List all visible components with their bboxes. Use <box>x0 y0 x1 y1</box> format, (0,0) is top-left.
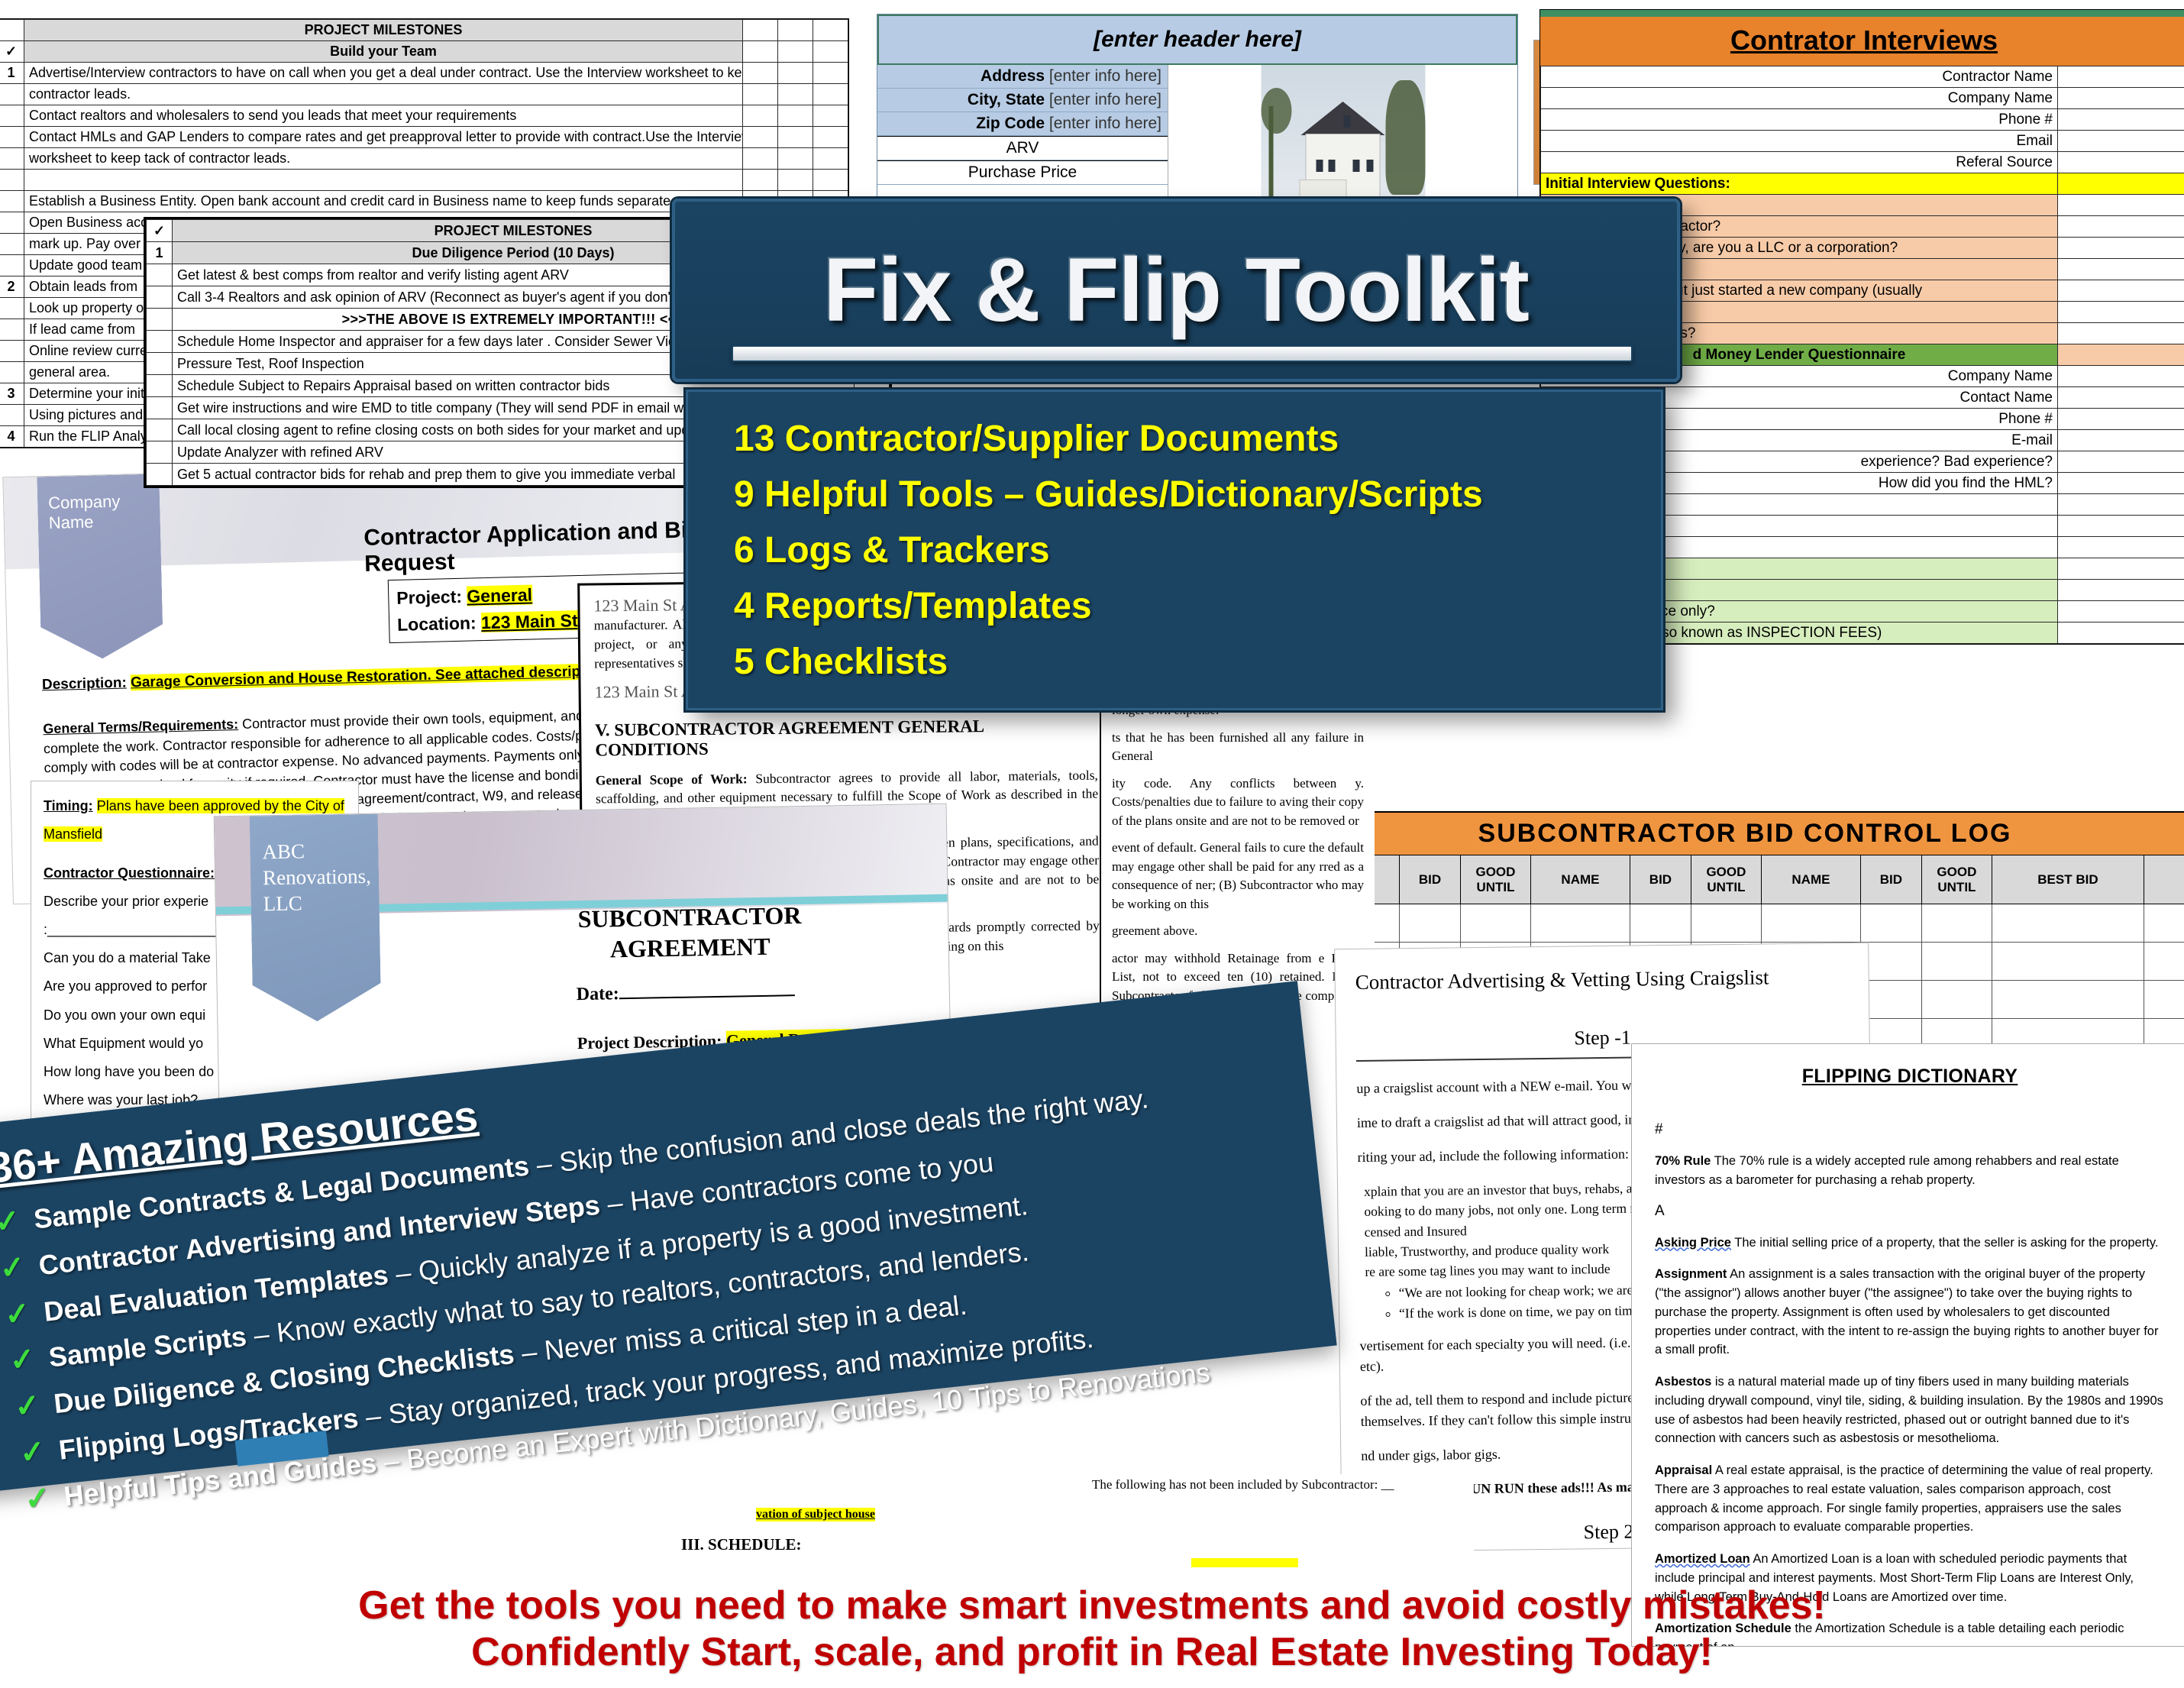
zip-row[interactable]: Zip Code [enter info here] <box>877 112 1168 136</box>
cell[interactable] <box>1860 904 1921 943</box>
table-row: 1Advertise/Interview contractors to have… <box>0 63 848 84</box>
tree-left-canopy-icon <box>1261 88 1291 134</box>
house-window <box>1316 160 1323 172</box>
check-cell[interactable] <box>0 191 24 212</box>
field-input[interactable] <box>2058 409 2184 430</box>
answer-cell[interactable] <box>2058 516 2184 537</box>
field-input[interactable] <box>2058 152 2184 173</box>
check-cell[interactable] <box>147 375 173 397</box>
feature-item: 13 Contractor/Supplier Documents <box>734 412 1661 467</box>
answer-cell[interactable] <box>2058 216 2184 238</box>
cell[interactable] <box>2058 344 2184 366</box>
features-list-card: 13 Contractor/Supplier Documents 9 Helpf… <box>686 390 1663 710</box>
row-number: 2 <box>0 276 24 298</box>
answer-cell[interactable] <box>2058 537 2184 558</box>
cell[interactable] <box>778 170 813 191</box>
cell[interactable] <box>778 148 813 170</box>
purchase-price-row[interactable]: Purchase Price <box>877 160 1168 185</box>
col-cell[interactable] <box>743 20 778 41</box>
gc-fragment: event of default. General fails to cure … <box>1112 839 1364 914</box>
cell[interactable] <box>778 63 813 84</box>
row-number: 1 <box>147 242 173 264</box>
col-header-name: NAME <box>1761 855 1860 904</box>
answer-cell[interactable] <box>2058 494 2184 516</box>
yellow-highlight-bar <box>1191 1558 1298 1567</box>
bid-log-title: SUBCONTRACTOR BID CONTROL LOG <box>1300 813 2184 855</box>
house-porch <box>1299 179 1346 198</box>
check-cell[interactable] <box>0 341 24 362</box>
gc-fragment: greement above. <box>1112 922 1364 940</box>
entry-term: Assignment <box>1655 1267 1727 1281</box>
col-header-bid: BID <box>1399 855 1460 904</box>
check-icon: ✓ <box>12 1382 43 1431</box>
dictionary-entry: 70% Rule The 70% rule is a widely accept… <box>1655 1152 2165 1190</box>
check-cell[interactable] <box>147 397 173 419</box>
cell[interactable] <box>1921 943 1992 981</box>
table-row: Initial Interview Questions: <box>1541 173 2184 195</box>
check-cell[interactable] <box>0 234 24 255</box>
table-header-row: NAME BID GOOD UNTIL NAME BID GOOD UNTIL … <box>1300 855 2184 904</box>
date-blank-line[interactable] <box>619 994 795 999</box>
cell[interactable] <box>743 148 778 170</box>
field-input[interactable] <box>2058 109 2184 131</box>
field-input[interactable] <box>2058 387 2184 409</box>
cell[interactable] <box>813 127 848 148</box>
cell[interactable] <box>2144 981 2184 1019</box>
check-cell[interactable] <box>0 127 24 148</box>
table-row: Phone # <box>1541 109 2184 131</box>
check-column-header: ✓ <box>0 41 24 63</box>
check-cell[interactable] <box>147 331 173 353</box>
city-state-row[interactable]: City, State [enter info here] <box>877 89 1168 112</box>
row-number: 4 <box>0 426 24 448</box>
answer-cell[interactable] <box>2058 302 2184 323</box>
check-cell[interactable] <box>147 286 173 309</box>
answer-cell[interactable] <box>2058 195 2184 216</box>
flipping-dictionary-document[interactable]: FLIPPING DICTIONARY # 70% Rule The 70% r… <box>1631 1043 2184 1647</box>
cell[interactable] <box>1460 904 1530 943</box>
check-cell[interactable] <box>0 405 24 426</box>
dictionary-entry: Asbestos is a natural material made up o… <box>1655 1373 2165 1448</box>
property-header-placeholder[interactable]: [enter header here] <box>877 15 1517 65</box>
cell[interactable] <box>1399 904 1460 943</box>
dictionary-entry: Asking Price The initial selling price o… <box>1655 1234 2165 1253</box>
feature-item: 6 Logs & Trackers <box>734 523 1661 579</box>
cell[interactable] <box>743 63 778 84</box>
cell[interactable] <box>1691 904 1761 943</box>
row-number: 3 <box>0 383 24 405</box>
project-value[interactable]: General <box>467 585 532 606</box>
cta-line-2: Confidently Start, scale, and profit in … <box>0 1629 2184 1676</box>
check-icon: ✓ <box>0 1243 27 1292</box>
check-icon: ✓ <box>0 1198 23 1247</box>
house-window <box>1352 160 1359 172</box>
not-included-text: The following has not been included by S… <box>1092 1477 1394 1492</box>
milestone-text[interactable]: worksheet to keep tack of contractor lea… <box>24 148 743 170</box>
answer-cell[interactable] <box>2058 259 2184 280</box>
col-cell[interactable] <box>813 20 848 41</box>
zip-value[interactable]: [enter info here] <box>1049 115 1161 132</box>
milestone-text[interactable]: Establish a Business Entity. Open bank a… <box>24 191 743 212</box>
check-cell[interactable] <box>0 105 24 127</box>
cell[interactable] <box>743 84 778 105</box>
contractor-interviews-title: Contrator Interviews <box>1540 17 2184 66</box>
feature-item: 9 Helpful Tools – Guides/Dictionary/Scri… <box>734 467 1661 523</box>
field-input[interactable] <box>2058 66 2184 88</box>
entry-definition: An assignment is a sales transaction wit… <box>1655 1267 2158 1357</box>
property-info-sheet[interactable]: [enter header here] Address [enter info … <box>877 14 1518 203</box>
entry-term: Asking Price <box>1655 1236 1731 1250</box>
house-window <box>1366 160 1373 172</box>
location-label: Location: <box>397 613 477 635</box>
timing-label: Timing: <box>44 798 93 813</box>
col-cell[interactable] <box>778 20 813 41</box>
feature-item: 4 Reports/Templates <box>734 579 1661 635</box>
answer-cell[interactable] <box>2058 451 2184 473</box>
company-name: ABC Renovations, LLC <box>262 837 372 917</box>
milestone-text[interactable]: Contact HMLs and GAP Lenders to compare … <box>24 127 743 148</box>
address-row[interactable]: Address [enter info here] <box>877 65 1168 89</box>
dictionary-entry: Appraisal A real estate appraisal, is th… <box>1655 1461 2165 1537</box>
col-header-good-until: GOOD UNTIL <box>1691 855 1761 904</box>
cell[interactable] <box>778 105 813 127</box>
schedule-heading: III. SCHEDULE: <box>681 1535 802 1554</box>
cell[interactable] <box>1992 943 2144 981</box>
answer-cell[interactable] <box>2058 280 2184 302</box>
cell[interactable] <box>1992 981 2144 1019</box>
feature-item: 5 Checklists <box>734 635 1661 690</box>
col-header-best-bid: BEST BID <box>1992 855 2144 904</box>
gc-fragment: ts that he has been furnished all any fa… <box>1112 729 1364 766</box>
property-fields: Address [enter info here] City, State [e… <box>877 65 1168 202</box>
milestone-text[interactable] <box>24 170 743 191</box>
company-name-ribbon: ABC Renovations, LLC <box>250 814 382 1023</box>
property-photo-area <box>1168 65 1517 202</box>
cell[interactable] <box>1761 904 1860 943</box>
check-cell[interactable] <box>147 309 173 331</box>
scope-label: General Scope of Work: <box>596 771 748 787</box>
answer-cell[interactable] <box>2058 323 2184 344</box>
check-cell[interactable] <box>147 464 173 486</box>
cell[interactable] <box>743 127 778 148</box>
entry-definition: The initial selling price of a property,… <box>1734 1236 2158 1250</box>
project-label: Project: <box>396 587 462 608</box>
milestones-header: PROJECT MILESTONES <box>24 20 743 41</box>
table-row: Contact realtors and wholesalers to send… <box>0 105 848 127</box>
cell[interactable] <box>813 84 848 105</box>
table-row: Contractor Name <box>1541 66 2184 88</box>
cell[interactable] <box>813 170 848 191</box>
milestone-text[interactable]: Advertise/Interview contractors to have … <box>24 63 743 84</box>
field-input[interactable] <box>2058 131 2184 152</box>
table-row <box>1300 904 2184 943</box>
section-letter: # <box>1655 1121 2165 1138</box>
check-cell[interactable] <box>0 212 24 234</box>
table-row: Email <box>1541 131 2184 152</box>
call-to-action-block: Get the tools you need to make smart inv… <box>0 1583 2184 1677</box>
check-cell[interactable] <box>0 362 24 383</box>
document-title: Contractor Advertising & Vetting Using C… <box>1355 965 1849 994</box>
check-cell[interactable] <box>0 148 24 170</box>
cell[interactable] <box>778 84 813 105</box>
entry-definition: A real estate appraisal, is the practice… <box>1655 1463 2153 1534</box>
gc-fragment: ity code. Any conflicts between y. Costs… <box>1112 774 1364 830</box>
dictionary-entry: Assignment An assignment is a sales tran… <box>1655 1265 2165 1360</box>
check-icon: ✓ <box>2 1290 33 1339</box>
company-name-ribbon: Company Name <box>37 474 163 660</box>
field-input[interactable] <box>2058 430 2184 451</box>
cell[interactable] <box>743 170 778 191</box>
col-header-good-until: GOOD UNTIL <box>1921 855 1992 904</box>
page-title: Fix & Flip Toolkit <box>823 238 1529 342</box>
answer-cell[interactable] <box>2058 622 2184 644</box>
col-header-name: NAME <box>1530 855 1630 904</box>
field-label: Phone # <box>1541 109 2058 131</box>
field-label: Referal Source <box>1541 152 2058 173</box>
field-label: Company Name <box>1541 88 2058 109</box>
answer-cell[interactable] <box>2058 238 2184 259</box>
answer-cell[interactable] <box>2058 601 2184 622</box>
cell[interactable] <box>1860 943 1921 981</box>
entry-term: Amortized Loan <box>1655 1552 1750 1566</box>
arv-row[interactable]: ARV <box>877 136 1168 160</box>
cell[interactable] <box>2058 173 2184 195</box>
check-icon: ✓ <box>22 1474 53 1523</box>
entry-term: Appraisal <box>1655 1463 1712 1477</box>
col-cell[interactable] <box>778 41 813 63</box>
check-cell[interactable] <box>0 170 24 191</box>
col-header-bid: BID <box>1630 855 1691 904</box>
milestones-subheader: Build your Team <box>24 41 743 63</box>
table-row: worksheet to keep tack of contractor lea… <box>0 148 848 170</box>
table-row: contractor leads. <box>0 84 848 105</box>
check-cell[interactable] <box>0 298 24 319</box>
table-row: Contact HMLs and GAP Lenders to compare … <box>0 127 848 148</box>
document-title: FLIPPING DICTIONARY <box>1655 1066 2165 1088</box>
milestone-text[interactable]: Contact realtors and wholesalers to send… <box>24 105 743 127</box>
check-cell[interactable] <box>147 353 173 375</box>
house-window <box>1343 115 1350 128</box>
cta-line-1: Get the tools you need to make smart inv… <box>0 1583 2184 1629</box>
field-label: Email <box>1541 131 2058 152</box>
table-row: ✓ Build your Team <box>0 41 848 63</box>
table-row: Referal Source <box>1541 152 2184 173</box>
document-title: SUBCONTRACTOR AGREEMENT <box>575 900 805 965</box>
field-input[interactable] <box>2058 88 2184 109</box>
cell[interactable] <box>1530 904 1630 943</box>
entry-definition: The 70% rule is a widely accepted rule a… <box>1655 1154 2119 1187</box>
table-row: PROJECT MILESTONES <box>0 20 848 41</box>
answer-cell[interactable] <box>2058 558 2184 580</box>
tree-right-canopy-icon <box>1385 80 1425 195</box>
date-label: Date: <box>577 984 619 1004</box>
address-label: Address <box>981 67 1045 85</box>
check-cell[interactable] <box>147 441 173 464</box>
cell[interactable] <box>743 105 778 127</box>
col-cell[interactable] <box>813 41 848 63</box>
cell[interactable] <box>1992 904 2144 943</box>
check-cell[interactable] <box>0 255 24 276</box>
answer-cell[interactable] <box>2058 473 2184 494</box>
col-header-bid: BID <box>1860 855 1921 904</box>
table-row <box>0 170 848 191</box>
cell[interactable] <box>2144 943 2184 981</box>
entry-definition: is a natural material made up of tiny fi… <box>1655 1375 2163 1445</box>
section-letter: A <box>1655 1203 2165 1220</box>
house-photo <box>1261 65 1425 218</box>
highlighted-fragment: vation of subject house <box>756 1508 875 1521</box>
address-value[interactable]: [enter info here] <box>1049 67 1161 85</box>
title-underline-bar <box>732 345 1633 362</box>
entry-term: Asbestos <box>1655 1375 1711 1389</box>
zip-label: Zip Code <box>976 115 1045 132</box>
cell[interactable] <box>1921 904 1992 943</box>
check-cell[interactable] <box>147 264 173 286</box>
check-column-header: ✓ <box>147 220 173 242</box>
schedule-snippet: The following has not been included by S… <box>664 1474 1474 1573</box>
cell[interactable] <box>2144 904 2184 943</box>
cell[interactable] <box>778 127 813 148</box>
entry-term: 70% Rule <box>1655 1154 1711 1168</box>
house-window <box>1328 160 1335 172</box>
date-field-row[interactable]: Date: <box>577 981 795 1005</box>
check-cell[interactable] <box>0 319 24 341</box>
description-label: Description: <box>42 675 127 694</box>
questions-header: Initial Interview Questions: <box>1541 173 2058 195</box>
col-header-good-until: GOOD UNTIL <box>1460 855 1530 904</box>
section-heading: V. SUBCONTRACTOR AGREEMENT GENERAL CONDI… <box>595 715 1098 760</box>
answer-cell[interactable] <box>2058 580 2184 601</box>
city-state-label: City, State <box>968 91 1045 108</box>
cell[interactable] <box>1860 981 1921 1019</box>
city-state-value[interactable]: [enter info here] <box>1049 91 1161 108</box>
check-cell[interactable] <box>0 84 24 105</box>
cell[interactable] <box>813 105 848 127</box>
check-icon: ✓ <box>18 1428 48 1477</box>
green-accent-bar <box>1540 10 2184 17</box>
cell[interactable] <box>813 148 848 170</box>
col-cell[interactable] <box>743 41 778 63</box>
col-header-extra <box>2144 855 2184 904</box>
field-input[interactable] <box>2058 366 2184 387</box>
check-icon: ✓ <box>8 1336 38 1385</box>
company-name-placeholder: Company Name <box>48 490 160 533</box>
cell[interactable] <box>1630 904 1691 943</box>
milestone-text[interactable]: contractor leads. <box>24 84 743 105</box>
row-number: 1 <box>0 63 24 84</box>
cell[interactable] <box>1921 981 1992 1019</box>
table-row: Company Name <box>1541 88 2184 109</box>
spreadsheet-corner-cell <box>0 20 24 41</box>
cell[interactable] <box>813 63 848 84</box>
check-cell[interactable] <box>147 419 173 441</box>
general-terms-label: General Terms/Requirements: <box>43 716 238 736</box>
field-label: Contractor Name <box>1541 66 2058 88</box>
